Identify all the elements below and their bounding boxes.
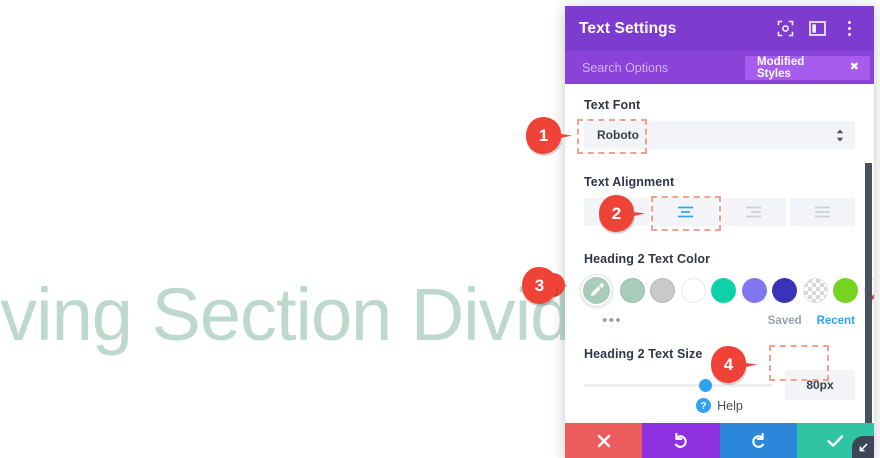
- modal-title: Text Settings: [579, 20, 777, 38]
- resize-arrow-icon: [858, 442, 869, 453]
- modal-search-bar: Modified Styles ✖: [565, 51, 874, 84]
- panel-scrollbar-thumb[interactable]: [865, 163, 872, 423]
- help-link[interactable]: ? Help: [565, 398, 874, 413]
- modified-styles-badge[interactable]: Modified Styles ✖: [745, 56, 870, 80]
- text-alignment-center[interactable]: [653, 198, 718, 226]
- text-alignment-left[interactable]: [584, 198, 649, 226]
- panel-scrollbar[interactable]: [865, 163, 872, 423]
- text-font-value: Roboto: [584, 128, 836, 142]
- color-swatch-sage[interactable]: [620, 278, 645, 303]
- more-colors-icon[interactable]: •••: [584, 317, 622, 325]
- redo-button[interactable]: [720, 423, 797, 458]
- text-font-label: Text Font: [584, 98, 855, 112]
- resize-handle[interactable]: [852, 436, 874, 458]
- modal-header-actions: [777, 20, 862, 37]
- modal-body: Text Font Roboto Text Alignment: [565, 84, 874, 423]
- text-alignment-justify[interactable]: [790, 198, 855, 226]
- heading2-size-label: Heading 2 Text Size: [584, 347, 855, 361]
- search-input[interactable]: [565, 60, 745, 76]
- text-settings-modal: Text Settings: [565, 6, 874, 458]
- field-text-font: Text Font Roboto: [584, 98, 855, 149]
- field-heading2-size: Heading 2 Text Size: [584, 347, 855, 400]
- svg-text:?: ?: [701, 401, 707, 412]
- kebab-menu-icon[interactable]: [841, 20, 858, 37]
- text-alignment-label: Text Alignment: [584, 175, 855, 189]
- eyedropper-icon: [588, 282, 605, 299]
- cancel-button[interactable]: [565, 423, 642, 458]
- checkmark-icon: [827, 434, 844, 448]
- color-swatch-transparent[interactable]: [803, 278, 828, 303]
- color-swatch-indigo[interactable]: [772, 278, 797, 303]
- heading2-color-current[interactable]: [581, 275, 612, 306]
- help-label: Help: [717, 399, 743, 413]
- color-swatch-teal[interactable]: [711, 278, 736, 303]
- redo-icon: [750, 433, 767, 448]
- color-tabs: Saved Recent: [768, 315, 855, 327]
- color-swatch-white[interactable]: [681, 278, 706, 303]
- heading2-size-control: [584, 370, 855, 400]
- text-alignment-group: [584, 198, 855, 226]
- tab-recent-colors[interactable]: Recent: [817, 315, 855, 327]
- close-icon: [597, 434, 611, 448]
- close-icon[interactable]: ✖: [850, 62, 859, 73]
- color-swatch-lavender[interactable]: [742, 278, 767, 303]
- heading2-size-slider[interactable]: [584, 371, 773, 399]
- text-font-select[interactable]: Roboto: [584, 121, 855, 149]
- callout-marker-3-badge: 3: [540, 272, 566, 298]
- slider-thumb[interactable]: [699, 379, 712, 392]
- color-swatch-green[interactable]: [833, 278, 858, 303]
- modified-styles-label: Modified Styles: [757, 56, 841, 80]
- help-circle-icon: ?: [696, 398, 711, 413]
- modal-footer: [565, 423, 874, 458]
- modal-header: Text Settings: [565, 6, 874, 51]
- layout-columns-icon[interactable]: [809, 20, 826, 37]
- color-swatch-footer: ••• Saved Recent: [584, 315, 855, 327]
- chevron-updown-icon: [836, 129, 855, 142]
- callout-badge-number: 3: [540, 272, 566, 298]
- field-heading2-color: Heading 2 Text Color •••: [584, 252, 855, 327]
- undo-icon: [672, 433, 689, 448]
- color-swatch-gray[interactable]: [650, 278, 675, 303]
- undo-button[interactable]: [642, 423, 719, 458]
- section-divider-heading[interactable]: oving Section Divide: [0, 272, 610, 358]
- text-alignment-right[interactable]: [722, 198, 787, 226]
- heading2-size-input[interactable]: [785, 370, 855, 400]
- target-icon[interactable]: [777, 20, 794, 37]
- heading2-color-label: Heading 2 Text Color: [584, 252, 855, 266]
- tab-saved-colors[interactable]: Saved: [768, 315, 802, 327]
- color-swatch-row: [581, 275, 855, 306]
- field-text-alignment: Text Alignment: [584, 175, 855, 226]
